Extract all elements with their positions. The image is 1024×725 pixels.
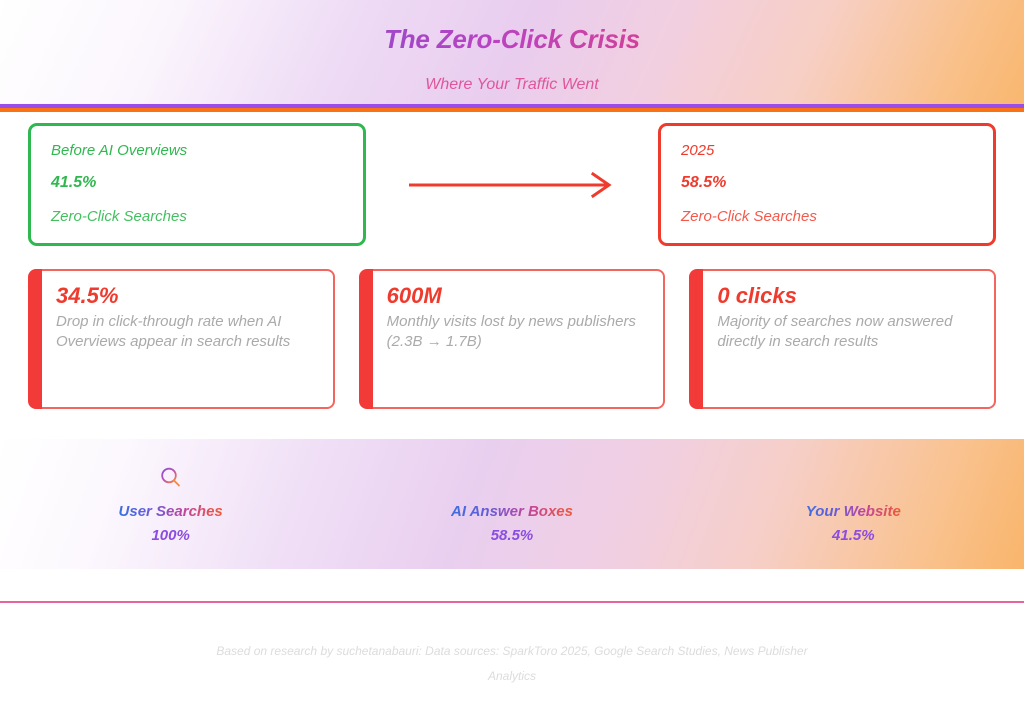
- comparison-card-before: Before AI Overviews 41.5% Zero-Click Sea…: [28, 123, 366, 246]
- search-icon: [158, 465, 184, 491]
- comparison-card-after: 2025 58.5% Zero-Click Searches: [658, 123, 996, 246]
- stat-card-body: 34.5% Drop in click-through rate when AI…: [42, 269, 335, 409]
- flow-step-icon: [683, 465, 1024, 495]
- page-subtitle: Where Your Traffic Went: [0, 76, 1024, 94]
- comparison-before-unit: Zero-Click Searches: [51, 208, 343, 225]
- stat-card-body: 600M Monthly visits lost by news publish…: [373, 269, 666, 409]
- flow-step-value: 58.5%: [341, 527, 682, 544]
- stat-accent-bar: [359, 269, 373, 409]
- stat-card: 34.5% Drop in click-through rate when AI…: [28, 269, 335, 409]
- comparison-after-label: 2025: [681, 142, 973, 159]
- flow-step-icon: [0, 465, 341, 495]
- stat-card: 600M Monthly visits lost by news publish…: [359, 269, 666, 409]
- flow-step-label: User Searches: [119, 503, 223, 520]
- flow-step-value: 41.5%: [683, 527, 1024, 544]
- footer-attribution: Based on research by suchetanabauri: Dat…: [202, 639, 822, 689]
- comparison-arrow: [366, 165, 658, 205]
- flow-step-your-website: Your Website 41.5%: [683, 465, 1024, 544]
- stat-value: 600M: [387, 283, 648, 309]
- page-header: The Zero-Click Crisis Where Your Traffic…: [0, 0, 1024, 104]
- flow-step-label: AI Answer Boxes: [451, 503, 573, 520]
- flow-step-label: Your Website: [806, 503, 901, 520]
- stat-accent-bar: [28, 269, 42, 409]
- traffic-flow-section: User Searches 100% AI Answer Boxes 58.5%…: [0, 439, 1024, 569]
- flow-step-ai-answer-boxes: AI Answer Boxes 58.5%: [341, 465, 682, 544]
- stat-value: 34.5%: [56, 283, 317, 309]
- footer-divider: [0, 601, 1024, 603]
- comparison-before-label: Before AI Overviews: [51, 142, 343, 159]
- flow-step-user-searches: User Searches 100%: [0, 465, 341, 544]
- stat-description: Monthly visits lost by news publishers (…: [387, 312, 648, 352]
- flow-step-value: 100%: [0, 527, 341, 544]
- stat-value: 0 clicks: [717, 283, 978, 309]
- comparison-after-unit: Zero-Click Searches: [681, 208, 973, 225]
- stat-accent-bar: [689, 269, 703, 409]
- stat-card: 0 clicks Majority of searches now answer…: [689, 269, 996, 409]
- comparison-section: Before AI Overviews 41.5% Zero-Click Sea…: [0, 112, 1024, 257]
- stat-card-body: 0 clicks Majority of searches now answer…: [703, 269, 996, 409]
- page-title: The Zero-Click Crisis: [0, 24, 1024, 55]
- stat-description: Drop in click-through rate when AI Overv…: [56, 312, 317, 352]
- comparison-after-value: 58.5%: [681, 174, 973, 192]
- arrow-right-icon: [407, 170, 617, 200]
- flow-step-icon: [341, 465, 682, 495]
- comparison-before-value: 41.5%: [51, 174, 343, 192]
- stat-description: Majority of searches now answered direct…: [717, 312, 978, 352]
- stat-card-list: 34.5% Drop in click-through rate when AI…: [0, 269, 1024, 409]
